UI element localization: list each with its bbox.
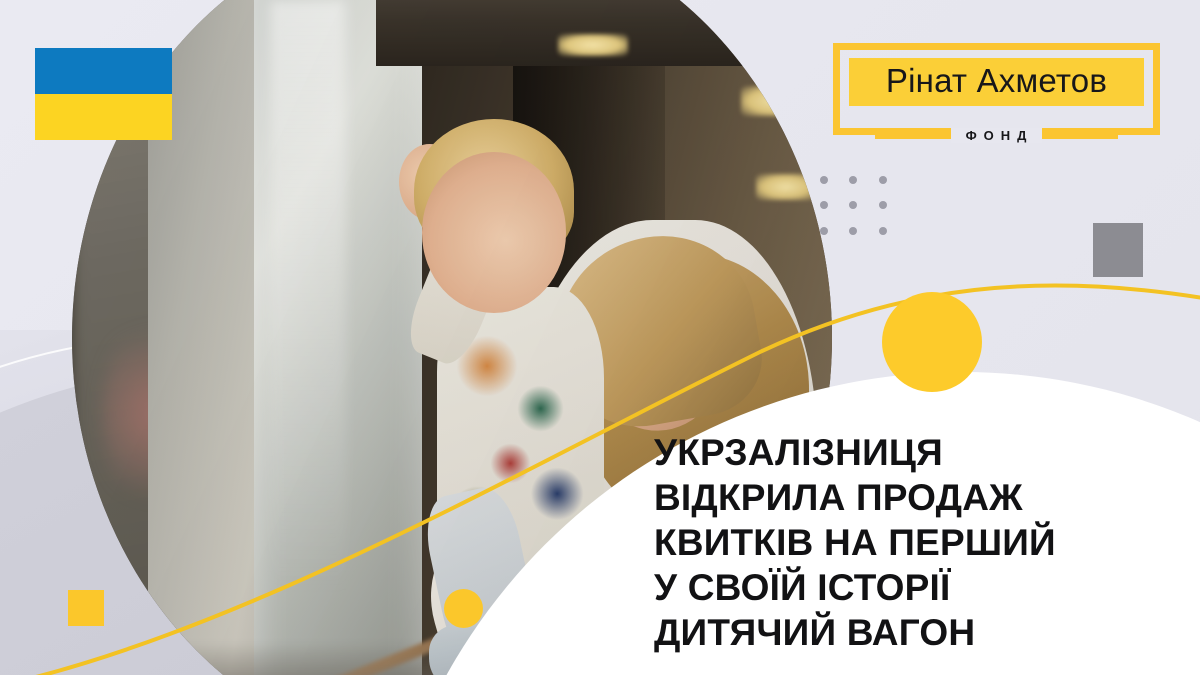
decorative-yellow-square [68,590,104,626]
logo-subtitle-bar-left [875,132,951,139]
logo-subtitle-row: ФОНД [833,125,1160,145]
grid-dot [879,227,887,235]
grid-dot [820,201,828,209]
decorative-yellow-circle-large [882,292,982,392]
logo-subtitle-bar-right [1042,132,1118,139]
headline: Укрзалізниця відкрила продаж квитків на … [654,430,1124,655]
grid-dot [820,227,828,235]
grid-dot [849,201,857,209]
decorative-grey-square [1093,223,1143,277]
grid-dot [820,176,828,184]
grid-dot [849,227,857,235]
grid-dot [879,201,887,209]
logo-subtitle: ФОНД [951,128,1043,143]
ukrainian-flag [35,48,172,140]
decorative-yellow-circle-small [444,589,483,628]
flag-blue-stripe [35,48,172,94]
promo-card: Рінат Ахметов ФОНД Укрзалізниця відкрила… [0,0,1200,675]
logo-inner-fill: Рінат Ахметов [849,58,1144,106]
grid-dot [879,176,887,184]
grid-dot [849,176,857,184]
foundation-logo[interactable]: Рінат Ахметов ФОНД [833,43,1160,135]
logo-title: Рінат Ахметов [849,58,1144,106]
flag-yellow-stripe [35,94,172,140]
decorative-dot-grid [820,176,908,252]
